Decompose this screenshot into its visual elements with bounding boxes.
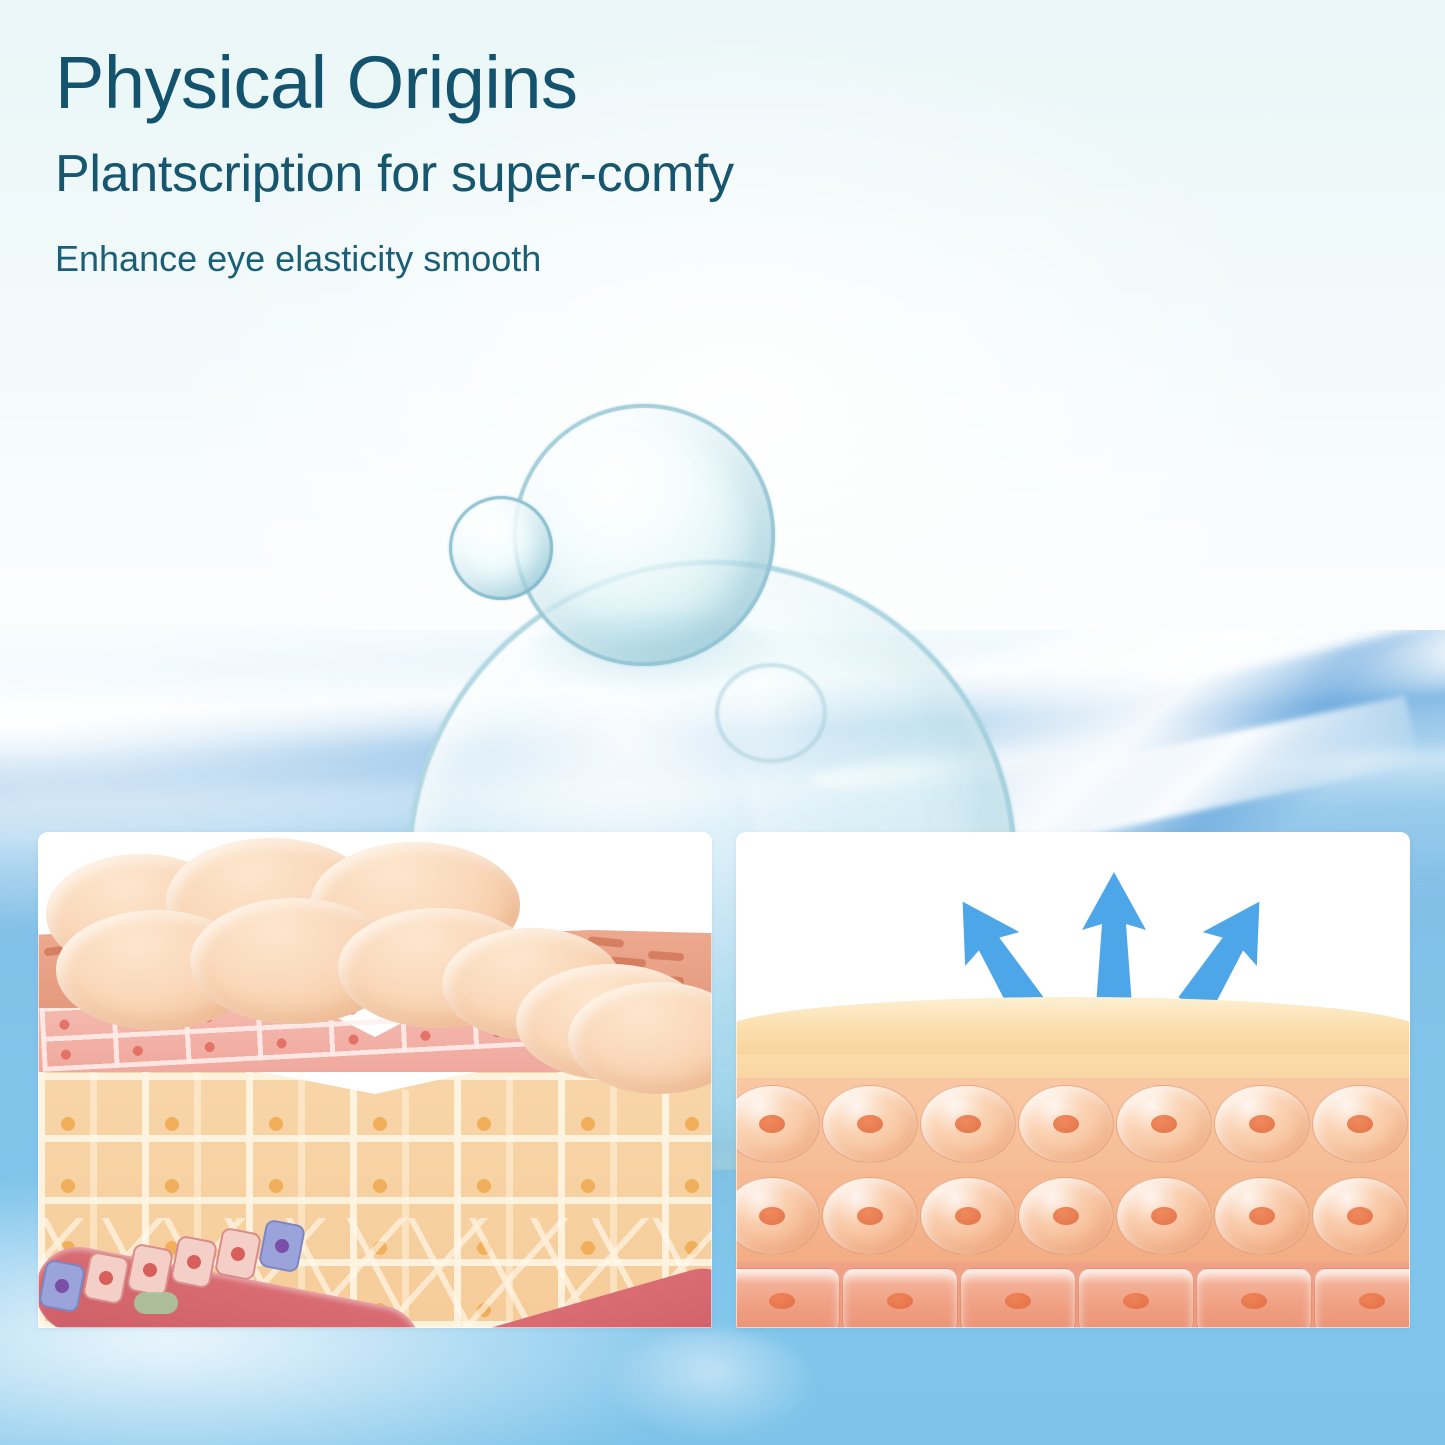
round-cell (920, 1085, 1016, 1163)
flat-cell (1314, 1268, 1410, 1328)
cell-nucleus (887, 1293, 913, 1309)
flat-cell (960, 1268, 1076, 1328)
cell-nucleus (142, 1262, 158, 1278)
cell-nucleus (759, 1207, 785, 1225)
cell-nucleus (186, 1254, 202, 1270)
page-subtitle: Plantscription for super-comfy (55, 145, 734, 205)
round-cell (822, 1177, 918, 1255)
inner-bubble (715, 663, 827, 763)
round-cell (1018, 1085, 1114, 1163)
cell-nucleus (1005, 1293, 1031, 1309)
cell-nucleus (1249, 1207, 1275, 1225)
page-title: Physical Origins (55, 40, 734, 125)
page-tagline: Enhance eye elasticity smooth (55, 237, 734, 280)
cell-nucleus (1347, 1115, 1373, 1133)
round-cell (1018, 1177, 1114, 1255)
collagen-fiber (648, 951, 684, 961)
cell-nucleus (769, 1293, 795, 1309)
flat-cell (842, 1268, 958, 1328)
round-cell (1116, 1177, 1212, 1255)
cell-nucleus (1053, 1115, 1079, 1133)
round-cell (1312, 1085, 1408, 1163)
flat-cell (1196, 1268, 1312, 1328)
green-cell (134, 1292, 178, 1314)
round-cell (736, 1085, 820, 1163)
cell-nucleus (1151, 1115, 1177, 1133)
cell-nucleus (1359, 1293, 1385, 1309)
small-bubble-rim (449, 496, 553, 600)
headline-block: Physical Origins Plantscription for supe… (55, 40, 734, 280)
round-cell (736, 1177, 820, 1255)
flat-cell (1078, 1268, 1194, 1328)
cell-nucleus (274, 1238, 290, 1254)
cell-nucleus (857, 1115, 883, 1133)
cell-nucleus (1053, 1207, 1079, 1225)
skin-lifting-diagram (736, 832, 1410, 1328)
cell-nucleus (54, 1278, 70, 1294)
diagram-panel-row (38, 832, 1410, 1328)
bubble-water-reflection (612, 1330, 812, 1435)
cell-nucleus (1249, 1115, 1275, 1133)
cell-nucleus (759, 1115, 785, 1133)
medium-bubble-rim (513, 404, 775, 666)
cell-nucleus (230, 1246, 246, 1262)
round-cell (920, 1177, 1016, 1255)
cell-nucleus (1151, 1207, 1177, 1225)
round-cell (1214, 1177, 1310, 1255)
cell-nucleus (857, 1207, 883, 1225)
product-poster: Physical Origins Plantscription for supe… (0, 0, 1445, 1445)
round-cell (1116, 1085, 1212, 1163)
cell-illustration (736, 832, 1410, 1328)
cell-nucleus (1241, 1293, 1267, 1309)
round-cell (822, 1085, 918, 1163)
skin-cross-section-diagram (38, 832, 712, 1328)
cell-nucleus (955, 1115, 981, 1133)
flat-cell-row-1 (736, 1262, 1410, 1328)
cell-nucleus (98, 1270, 114, 1286)
cell-nucleus (1347, 1207, 1373, 1225)
round-cell-row-2 (736, 1170, 1410, 1262)
cell-nucleus (1123, 1293, 1149, 1309)
cell-nucleus (955, 1207, 981, 1225)
round-cell-row-1 (736, 1078, 1410, 1170)
round-cell (1214, 1085, 1310, 1163)
skin-illustration (38, 832, 712, 1328)
flat-cell (736, 1268, 840, 1328)
round-cell (1312, 1177, 1408, 1255)
